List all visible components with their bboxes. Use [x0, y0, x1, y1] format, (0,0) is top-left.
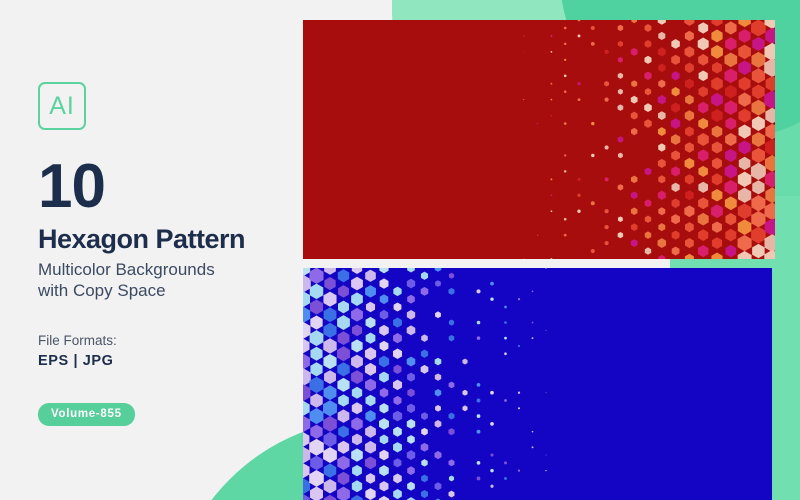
- blue-hexagon-preview: [303, 268, 772, 500]
- item-count: 10: [38, 158, 288, 217]
- ai-format-icon: AI: [38, 82, 86, 130]
- blue-hexagon-pattern: [303, 268, 772, 500]
- page-subtitle: Multicolor Backgrounds with Copy Space: [38, 259, 288, 302]
- page-title: Hexagon Pattern: [38, 225, 288, 253]
- red-hexagon-pattern: [303, 20, 775, 259]
- info-column: AI 10 Hexagon Pattern Multicolor Backgro…: [38, 82, 288, 426]
- file-formats-value: EPS | JPG: [38, 353, 288, 369]
- poster-canvas: AI 10 Hexagon Pattern Multicolor Backgro…: [0, 0, 800, 500]
- subtitle-line-2: with Copy Space: [38, 280, 288, 301]
- ai-badge-label: AI: [49, 92, 75, 121]
- file-formats-label: File Formats:: [38, 333, 288, 348]
- red-hexagon-preview: [303, 20, 775, 259]
- volume-badge: Volume-855: [38, 403, 135, 426]
- subtitle-line-1: Multicolor Backgrounds: [38, 259, 288, 280]
